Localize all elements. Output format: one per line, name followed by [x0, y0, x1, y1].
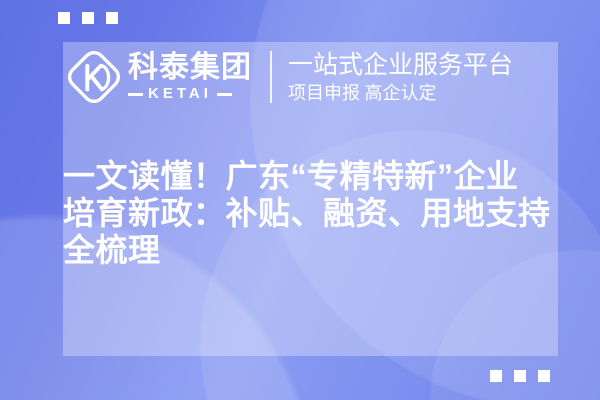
tagline-block: 一站式企业服务平台 项目申报 高企认定	[288, 51, 558, 104]
square-dot-icon	[514, 370, 526, 382]
headline: 一文读懂！广东“专精特新”企业 培育新政：补贴、融资、用地支持 全梳理	[63, 158, 563, 269]
wordmark-rule-right	[217, 93, 232, 96]
headline-line-2: 培育新政：补贴、融资、用地支持	[63, 195, 563, 232]
headline-line-1: 一文读懂！广东“专精特新”企业	[63, 158, 563, 195]
headline-line-3: 全梳理	[63, 232, 563, 269]
brand-wordmark: 科泰集团 KETAI	[128, 52, 252, 102]
square-dot-icon	[82, 12, 94, 24]
ketai-diamond-kd-logo-icon	[66, 49, 122, 105]
bottom-right-dots-decoration	[490, 370, 550, 382]
article-cover-banner: 科泰集团 KETAI 一站式企业服务平台 项目申报 高企认定 一文读懂！广东“专…	[0, 0, 600, 400]
square-dot-icon	[538, 370, 550, 382]
brand-name-en-row: KETAI	[128, 86, 252, 102]
brand-name-cn: 科泰集团	[128, 52, 252, 84]
wordmark-rule-left	[128, 93, 143, 96]
square-dot-icon	[490, 370, 502, 382]
square-dot-icon	[106, 12, 118, 24]
brand-name-en: KETAI	[148, 86, 212, 102]
brand-divider	[270, 51, 272, 103]
tagline-sub: 项目申报 高企认定	[288, 82, 558, 104]
tagline-main: 一站式企业服务平台	[288, 51, 558, 80]
top-left-dots-decoration	[58, 12, 118, 24]
brand-header: 科泰集团 KETAI 一站式企业服务平台 项目申报 高企认定	[63, 44, 558, 110]
square-dot-icon	[58, 12, 70, 24]
